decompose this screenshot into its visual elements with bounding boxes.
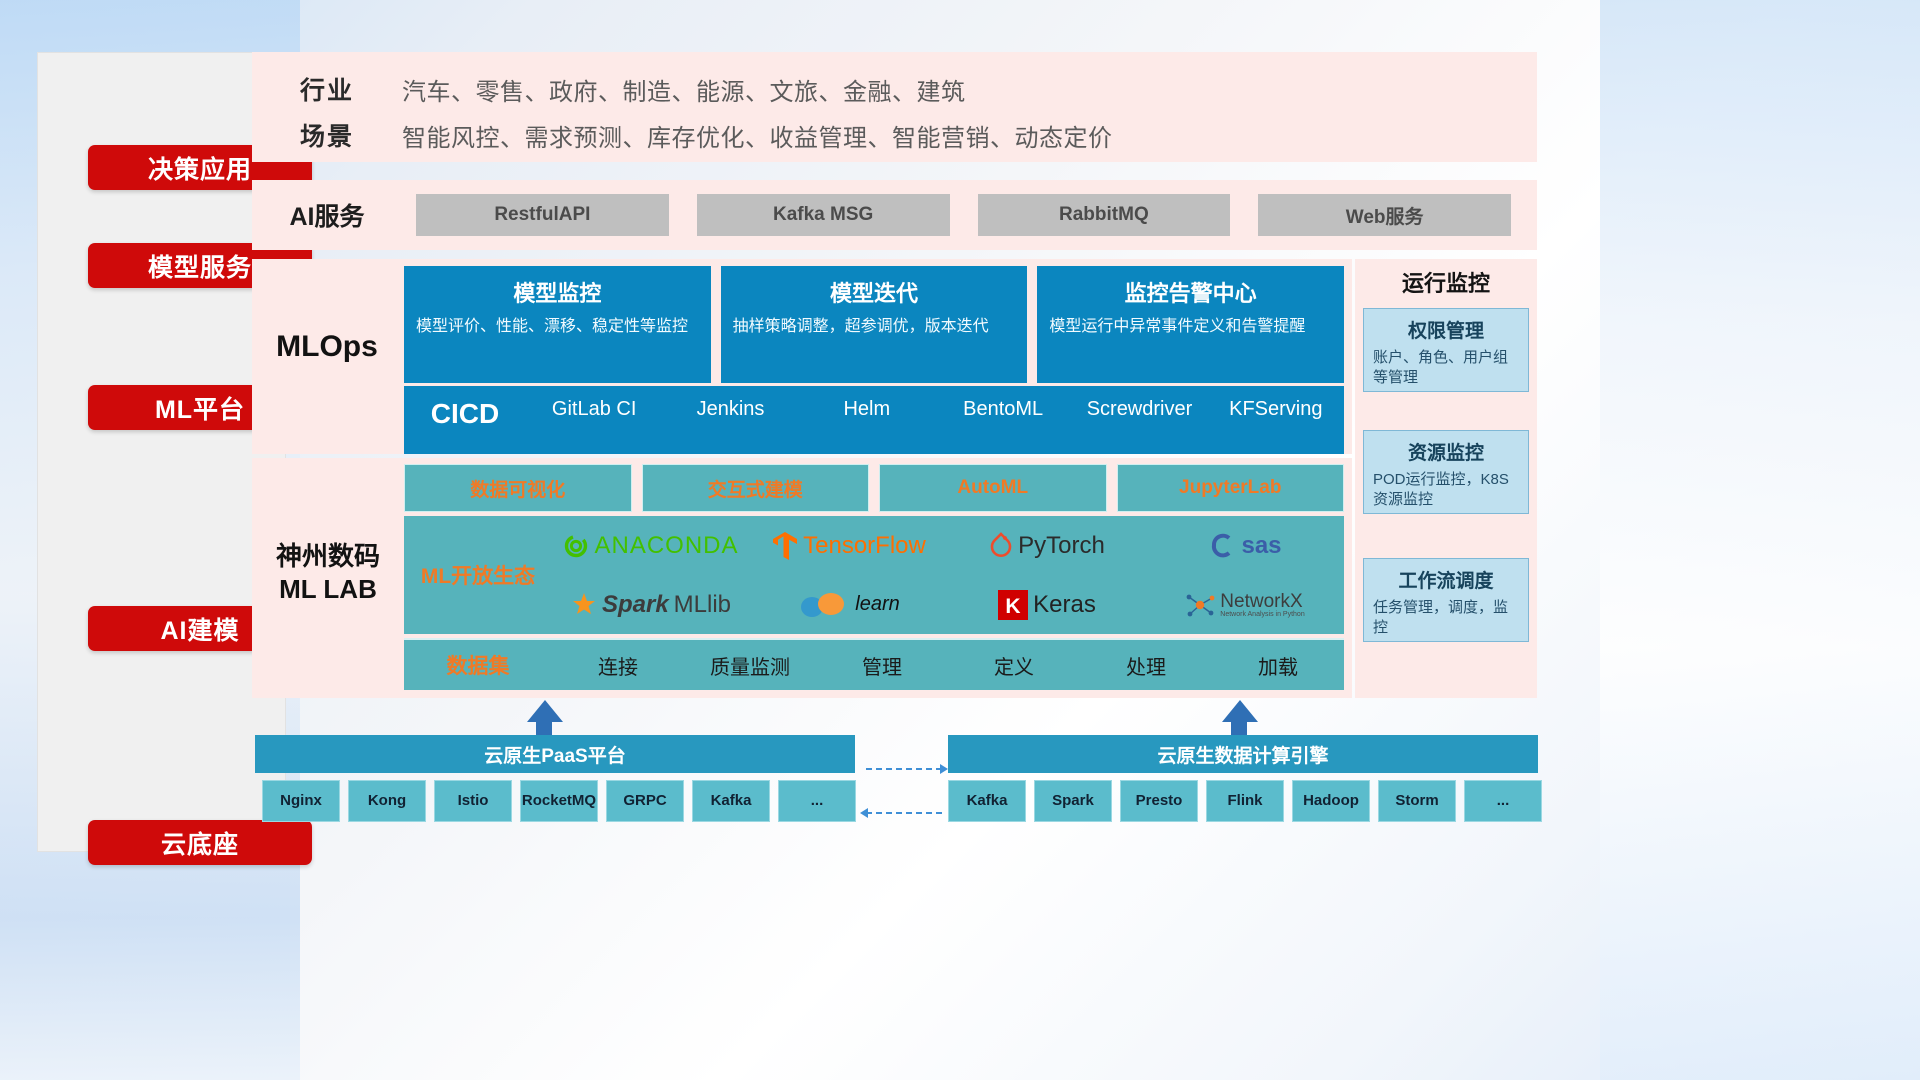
tool-tab-automl[interactable]: AutoML bbox=[879, 464, 1107, 512]
paas-chip-rocketmq[interactable]: RocketMQ bbox=[520, 780, 598, 822]
connector-arrow-left-icon bbox=[860, 808, 868, 818]
run-monitor-card-workflow[interactable]: 工作流调度 任务管理，调度，监控 bbox=[1363, 558, 1529, 642]
networkx-logo: NetworkX Network Analysis in Python bbox=[1185, 591, 1304, 619]
card-desc: 抽样策略调整，超参调优，版本迭代 bbox=[733, 316, 1016, 338]
pytorch-logo-text: PyTorch bbox=[1018, 532, 1105, 560]
keras-logo-text: Keras bbox=[1033, 591, 1096, 619]
sas-logo-text: sas bbox=[1241, 532, 1281, 560]
layer-rail: 决策应用 模型服务 ML平台 AI建模 云底座 bbox=[37, 52, 286, 852]
scenario-value: 智能风控、需求预测、库存优化、收益管理、智能营销、动态定价 bbox=[402, 118, 1113, 153]
sas-logo: sas bbox=[1208, 532, 1281, 560]
engine-chip-kafka[interactable]: Kafka bbox=[948, 780, 1026, 822]
networkx-icon bbox=[1185, 591, 1215, 619]
cicd-item-helm[interactable]: Helm bbox=[799, 398, 935, 421]
tool-tab-interactive-modeling[interactable]: 交互式建模 bbox=[642, 464, 870, 512]
ml-lab-label-line2: ML LAB bbox=[252, 573, 404, 606]
chip-label: RestfulAPI bbox=[494, 204, 590, 226]
ml-ecosystem-box: ML开放生态 ANACONDA TensorFlow bbox=[404, 516, 1344, 634]
cicd-item-screwdriver[interactable]: Screwdriver bbox=[1071, 398, 1207, 421]
keras-logo: K Keras bbox=[998, 590, 1096, 620]
card-title: 监控告警中心 bbox=[1049, 276, 1332, 308]
card-title: 工作流调度 bbox=[1373, 566, 1519, 593]
rail-item-label: 模型服务 bbox=[148, 248, 252, 284]
card-desc: 任务管理，调度，监控 bbox=[1373, 598, 1519, 637]
paas-arrow-up-icon bbox=[527, 700, 563, 722]
paas-chip-istio[interactable]: Istio bbox=[434, 780, 512, 822]
paas-title: 云原生PaaS平台 bbox=[484, 741, 625, 768]
run-monitor-title: 运行监控 bbox=[1355, 266, 1537, 298]
pytorch-logo: PyTorch bbox=[989, 532, 1105, 560]
dataset-item-load[interactable]: 加载 bbox=[1212, 651, 1344, 680]
dataset-item-connect[interactable]: 连接 bbox=[552, 651, 684, 680]
sas-icon bbox=[1208, 533, 1236, 559]
card-desc: POD运行监控，K8S资源监控 bbox=[1373, 470, 1519, 509]
cicd-title: CICD bbox=[404, 398, 526, 430]
rail-item-label: 云底座 bbox=[161, 825, 239, 861]
scenario-label: 场景 bbox=[252, 117, 402, 153]
ai-service-chip-rabbitmq[interactable]: RabbitMQ bbox=[978, 194, 1231, 236]
engine-to-paas-connector bbox=[866, 812, 942, 814]
card-title: 资源监控 bbox=[1373, 438, 1519, 465]
mlops-label: MLOps bbox=[252, 330, 402, 364]
card-desc: 模型运行中异常事件定义和告警提醒 bbox=[1049, 316, 1332, 338]
tensorflow-logo-text: TensorFlow bbox=[803, 532, 926, 560]
ai-service-label: AI服务 bbox=[252, 197, 402, 233]
architecture-diagram: 决策应用 模型服务 ML平台 AI建模 云底座 行业 汽车、零售、政府、制造、能… bbox=[0, 0, 1920, 1080]
rail-item-label: 决策应用 bbox=[148, 150, 252, 186]
cicd-item-gitlab-ci[interactable]: GitLab CI bbox=[526, 398, 662, 421]
paas-chip-kafka[interactable]: Kafka bbox=[692, 780, 770, 822]
run-monitor-card-permissions[interactable]: 权限管理 账户、角色、用户组等管理 bbox=[1363, 308, 1529, 392]
cicd-bar: CICD GitLab CI Jenkins Helm BentoML Scre… bbox=[404, 386, 1344, 454]
tool-tab-data-visualization[interactable]: 数据可视化 bbox=[404, 464, 632, 512]
chip-label: Web服务 bbox=[1346, 202, 1424, 229]
scenario-row: 场景 智能风控、需求预测、库存优化、收益管理、智能营销、动态定价 bbox=[252, 112, 1537, 158]
engine-chip-row: Kafka Spark Presto Flink Hadoop Storm ..… bbox=[948, 780, 1542, 822]
paas-chip-row: Nginx Kong Istio RocketMQ GRPC Kafka ... bbox=[262, 780, 856, 822]
card-title: 模型迭代 bbox=[733, 276, 1016, 308]
dataset-item-quality[interactable]: 质量监测 bbox=[684, 651, 816, 680]
paas-to-engine-connector bbox=[866, 768, 942, 770]
rail-item-label: AI建模 bbox=[160, 611, 239, 647]
industry-value: 汽车、零售、政府、制造、能源、文旅、金融、建筑 bbox=[402, 72, 966, 107]
networkx-logo-text: NetworkX bbox=[1220, 592, 1304, 611]
card-desc: 模型评价、性能、漂移、稳定性等监控 bbox=[416, 316, 699, 338]
dataset-label: 数据集 bbox=[404, 650, 552, 680]
ml-lab-label: 神州数码 ML LAB bbox=[252, 540, 404, 605]
chip-label: RabbitMQ bbox=[1059, 204, 1149, 226]
spark-mllib-logo: Spark MLlib bbox=[571, 591, 731, 619]
rail-item-cloud-base[interactable]: 云底座 bbox=[88, 820, 312, 865]
svg-text:K: K bbox=[1006, 595, 1021, 618]
paas-bar[interactable]: 云原生PaaS平台 bbox=[255, 735, 855, 773]
scikit-learn-logo-text: learn bbox=[855, 593, 899, 616]
engine-chip-flink[interactable]: Flink bbox=[1206, 780, 1284, 822]
rail-item-label: ML平台 bbox=[155, 390, 245, 426]
dataset-bar: 数据集 连接 质量监测 管理 定义 处理 加载 bbox=[404, 638, 1344, 690]
spark-logo-text: Spark bbox=[602, 591, 669, 619]
dataset-item-process[interactable]: 处理 bbox=[1080, 651, 1212, 680]
engine-bar[interactable]: 云原生数据计算引擎 bbox=[948, 735, 1538, 773]
cicd-item-kfserving[interactable]: KFServing bbox=[1208, 398, 1344, 421]
mlops-card-alert-center[interactable]: 监控告警中心 模型运行中异常事件定义和告警提醒 bbox=[1037, 266, 1344, 383]
chip-label: Kafka MSG bbox=[773, 204, 873, 226]
cicd-item-jenkins[interactable]: Jenkins bbox=[662, 398, 798, 421]
industry-label: 行业 bbox=[252, 71, 402, 107]
engine-chip-storm[interactable]: Storm bbox=[1378, 780, 1456, 822]
paas-chip-kong[interactable]: Kong bbox=[348, 780, 426, 822]
paas-chip-nginx[interactable]: Nginx bbox=[262, 780, 340, 822]
mlops-card-model-iteration[interactable]: 模型迭代 抽样策略调整，超参调优，版本迭代 bbox=[721, 266, 1028, 383]
ai-service-chip-web-service[interactable]: Web服务 bbox=[1258, 194, 1511, 236]
mllib-logo-text: MLlib bbox=[674, 591, 731, 619]
paas-chip-more[interactable]: ... bbox=[778, 780, 856, 822]
ml-lab-label-line1: 神州数码 bbox=[252, 540, 404, 573]
tool-tab-jupyterlab[interactable]: JupyterLab bbox=[1117, 464, 1345, 512]
scikit-learn-logo: learn bbox=[798, 590, 899, 620]
scikit-learn-icon bbox=[798, 590, 850, 620]
cicd-item-bentoml[interactable]: BentoML bbox=[935, 398, 1071, 421]
tensorflow-icon bbox=[772, 531, 798, 561]
engine-title: 云原生数据计算引擎 bbox=[1157, 741, 1328, 768]
anaconda-icon bbox=[563, 533, 589, 559]
mlops-card-model-monitoring[interactable]: 模型监控 模型评价、性能、漂移、稳定性等监控 bbox=[404, 266, 711, 383]
run-monitor-card-resources[interactable]: 资源监控 POD运行监控，K8S资源监控 bbox=[1363, 430, 1529, 514]
engine-chip-more[interactable]: ... bbox=[1464, 780, 1542, 822]
engine-chip-spark[interactable]: Spark bbox=[1034, 780, 1112, 822]
keras-icon: K bbox=[998, 590, 1028, 620]
tensorflow-logo: TensorFlow bbox=[772, 531, 926, 561]
ai-service-chip-kafka-msg[interactable]: Kafka MSG bbox=[697, 194, 950, 236]
industry-row: 行业 汽车、零售、政府、制造、能源、文旅、金融、建筑 bbox=[252, 66, 1537, 112]
ml-lab-tool-tabs: 数据可视化 交互式建模 AutoML JupyterLab bbox=[404, 464, 1344, 512]
spark-star-icon bbox=[571, 592, 597, 618]
paas-chip-grpc[interactable]: GRPC bbox=[606, 780, 684, 822]
connector-arrow-right-icon bbox=[940, 764, 948, 774]
networkx-logo-tagline: Network Analysis in Python bbox=[1220, 611, 1304, 618]
engine-chip-hadoop[interactable]: Hadoop bbox=[1292, 780, 1370, 822]
decision-apps-band: 行业 汽车、零售、政府、制造、能源、文旅、金融、建筑 场景 智能风控、需求预测、… bbox=[252, 52, 1537, 162]
ml-ecosystem-label: ML开放生态 bbox=[404, 560, 552, 590]
anaconda-logo: ANACONDA bbox=[563, 532, 738, 560]
ai-service-chip-restfulapi[interactable]: RestfulAPI bbox=[416, 194, 669, 236]
ai-service-band: AI服务 RestfulAPI Kafka MSG RabbitMQ Web服务 bbox=[252, 180, 1537, 250]
card-desc: 账户、角色、用户组等管理 bbox=[1373, 348, 1519, 387]
engine-arrow-up-icon bbox=[1222, 700, 1258, 722]
card-title: 模型监控 bbox=[416, 276, 699, 308]
anaconda-logo-text: ANACONDA bbox=[594, 532, 738, 560]
engine-chip-presto[interactable]: Presto bbox=[1120, 780, 1198, 822]
dataset-item-manage[interactable]: 管理 bbox=[816, 651, 948, 680]
pytorch-icon bbox=[989, 532, 1013, 560]
dataset-item-define[interactable]: 定义 bbox=[948, 651, 1080, 680]
card-title: 权限管理 bbox=[1373, 316, 1519, 343]
mlops-card-list: 模型监控 模型评价、性能、漂移、稳定性等监控 模型迭代 抽样策略调整，超参调优，… bbox=[404, 266, 1344, 383]
